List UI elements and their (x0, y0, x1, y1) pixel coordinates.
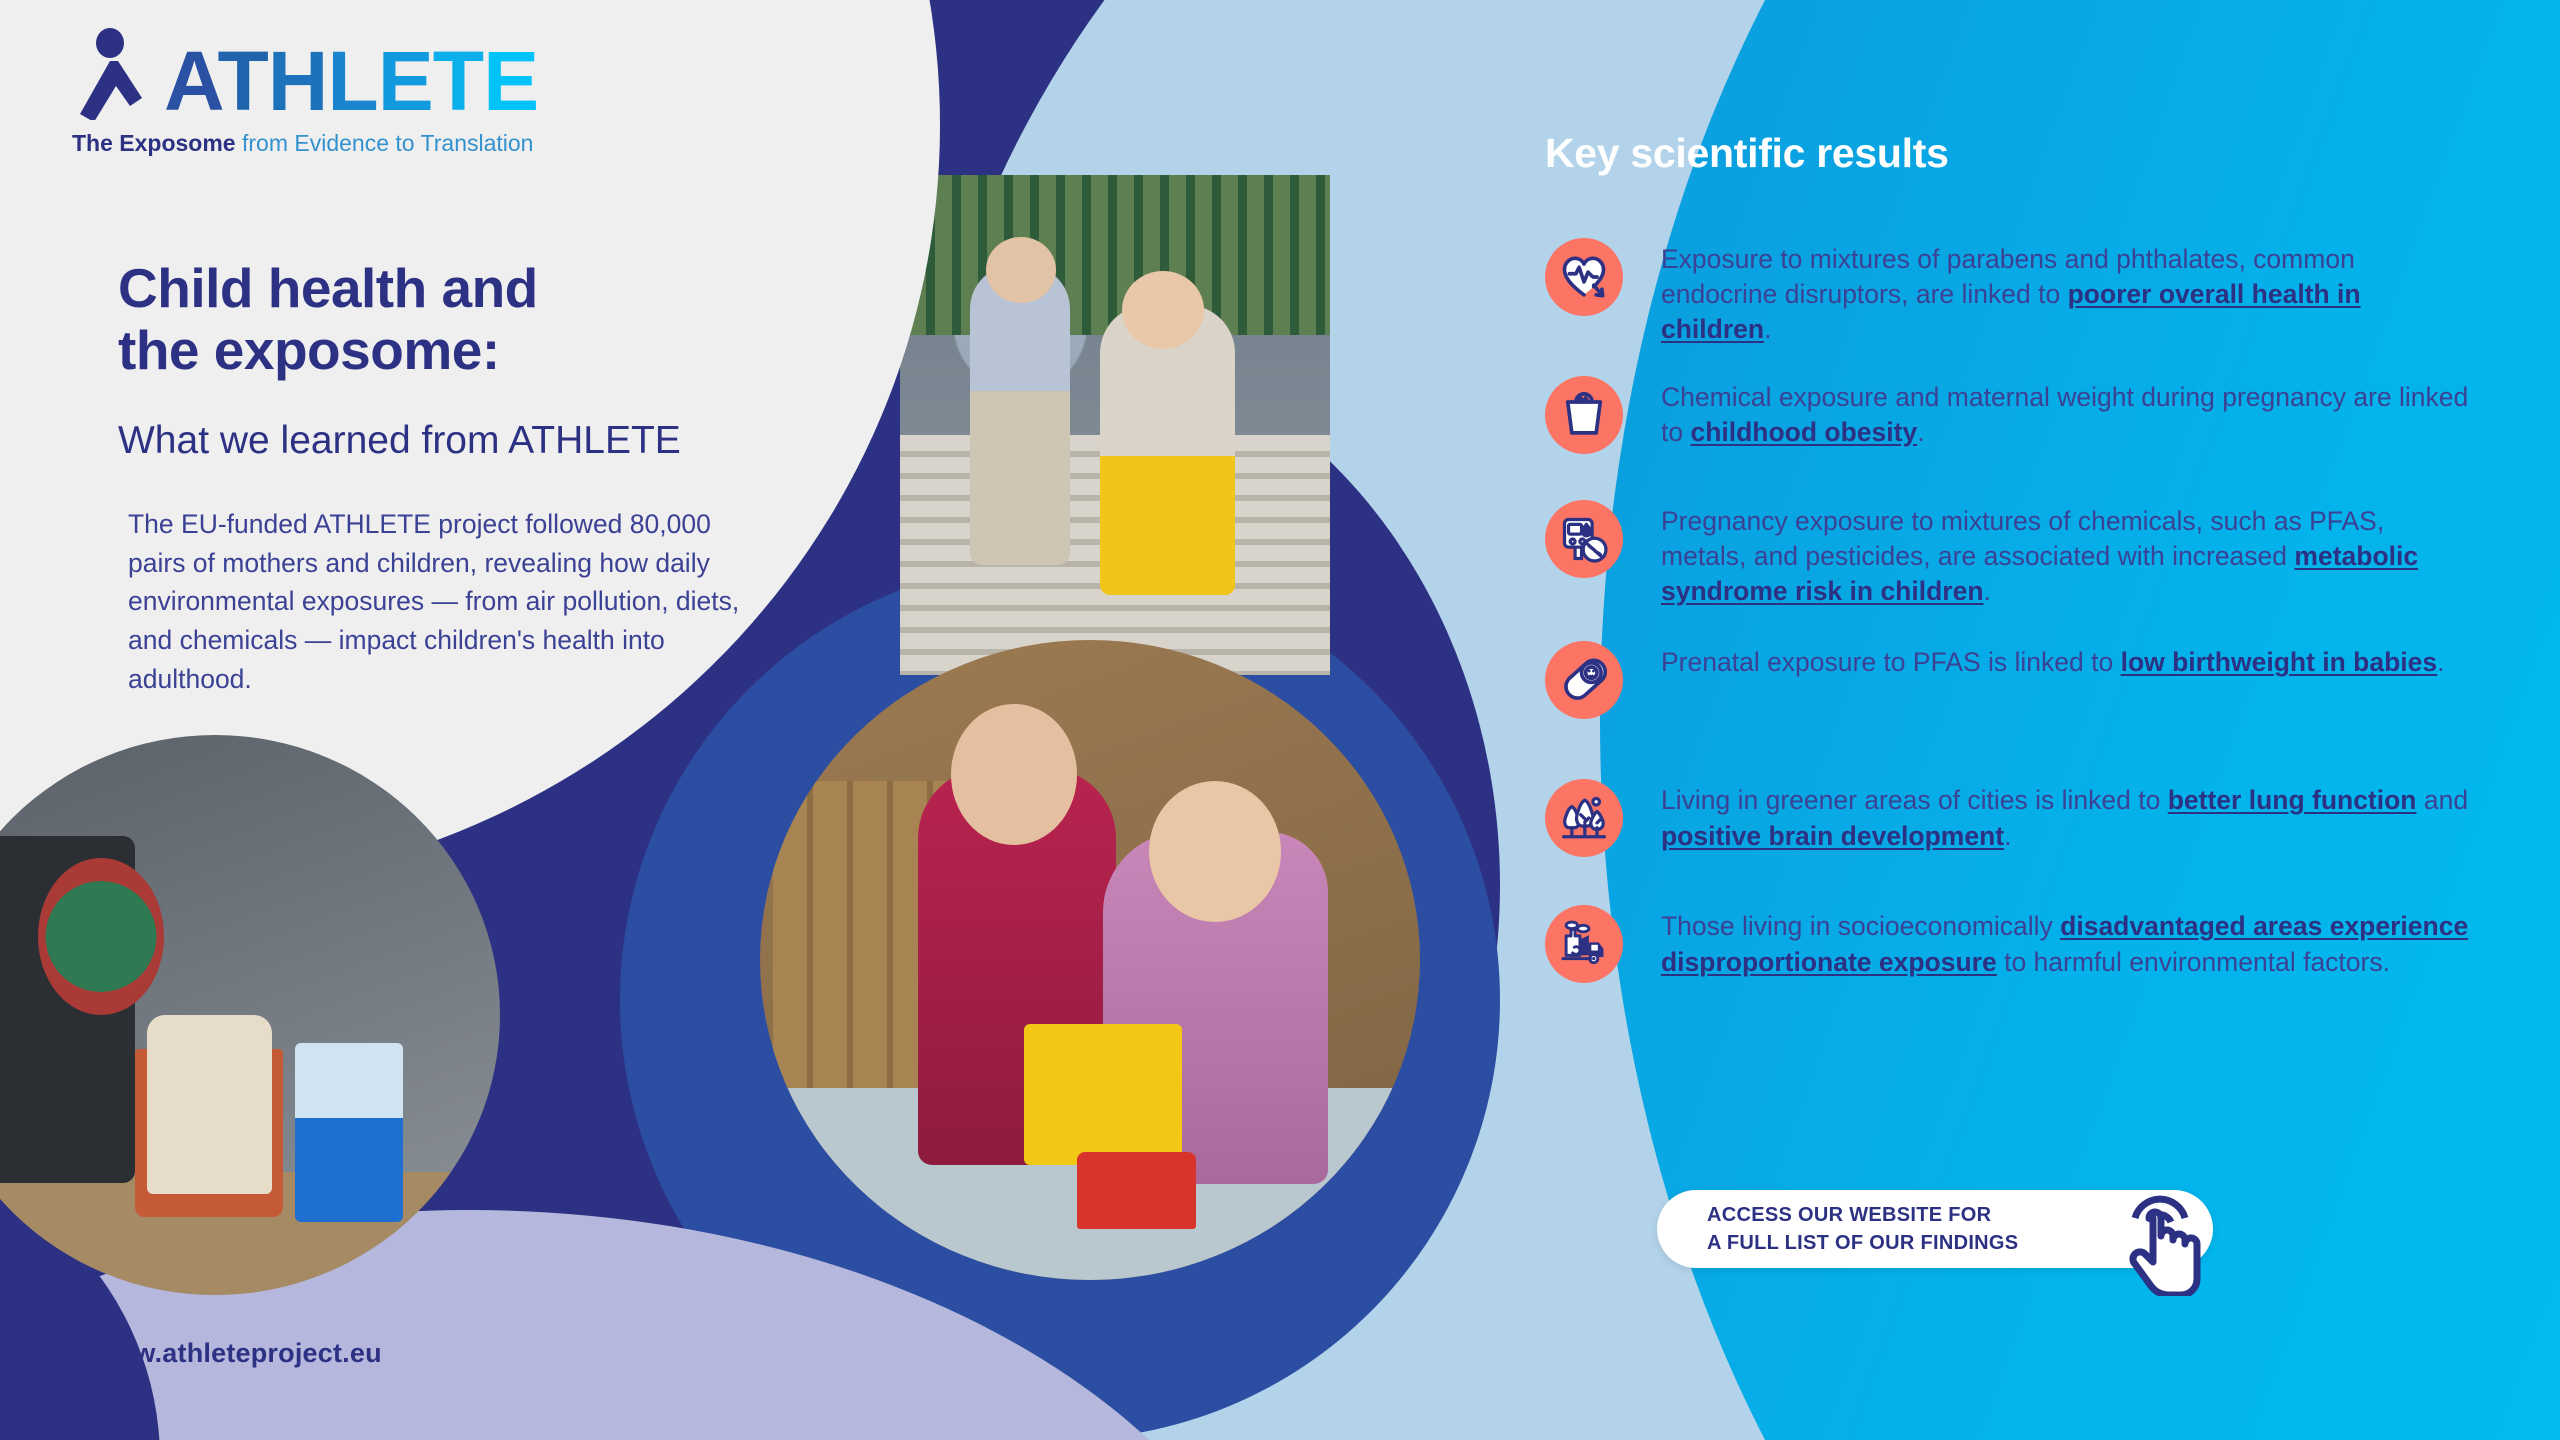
result-text-post: . (1764, 314, 1771, 344)
heart-pulse-down-icon (1545, 238, 1623, 316)
result-text: Living in greener areas of cities is lin… (1661, 777, 2470, 859)
result-link[interactable]: better lung function (2168, 785, 2417, 815)
logo-tagline-rest: from Evidence to Translation (236, 130, 534, 156)
photo-railing (900, 175, 1330, 335)
photo-two-toddlers-on-bench (900, 175, 1330, 675)
result-text-post: . (2004, 821, 2011, 851)
logo-wordmark: ATHLETE (164, 44, 538, 120)
result-text-pre: Those living in socioeconomically (1661, 911, 2060, 941)
photo-toddler-left-head (986, 237, 1056, 303)
glucose-meter-no-sugar-icon (1545, 500, 1623, 578)
result-text: Those living in socioeconomically disadv… (1661, 903, 2470, 979)
logo-tagline-bold: The Exposome (72, 130, 236, 156)
pointing-hand-icon[interactable] (2105, 1178, 2215, 1296)
headline-line-1: Child health and (118, 258, 738, 320)
result-item: Those living in socioeconomically disadv… (1545, 903, 2470, 983)
results-list: Exposure to mixtures of parabens and pht… (1545, 236, 2470, 1001)
athlete-logo: ATHLETE The Exposome from Evidence to Tr… (72, 28, 538, 157)
photo-duster (38, 858, 163, 1015)
factory-truck-icon (1545, 905, 1623, 983)
infographic-canvas: ATHLETE The Exposome from Evidence to Tr… (0, 0, 2560, 1440)
result-text-pre: Prenatal exposure to PFAS is linked to (1661, 647, 2121, 677)
intro-paragraph: The EU-funded ATHLETE project followed 8… (128, 505, 748, 698)
photo-toddler-left-body (970, 265, 1070, 565)
headline-line-2: the exposome: (118, 320, 738, 382)
logo-tagline: The Exposome from Evidence to Translatio… (72, 130, 538, 157)
result-item: Chemical exposure and maternal weight du… (1545, 374, 2470, 454)
result-item: Pregnancy exposure to mixtures of chemic… (1545, 498, 2470, 610)
trees-park-icon (1545, 779, 1623, 857)
result-item: Prenatal exposure to PFAS is linked to l… (1545, 639, 2470, 721)
photo-girl-left-head (951, 704, 1076, 845)
photo-girl-right-head (1149, 781, 1281, 922)
result-text: Exposure to mixtures of parabens and pht… (1661, 236, 2470, 348)
result-text-mid: and (2417, 785, 2469, 815)
result-text: Pregnancy exposure to mixtures of chemic… (1661, 498, 2470, 610)
result-text-pre: Living in greener areas of cities is lin… (1661, 785, 2168, 815)
result-text-post: . (2437, 647, 2444, 677)
result-item: Living in greener areas of cities is lin… (1545, 777, 2470, 859)
photo-toddler-right-head (1122, 271, 1204, 349)
result-text: Chemical exposure and maternal weight du… (1661, 374, 2470, 452)
photo-red-container (1077, 1152, 1196, 1229)
website-url[interactable]: www.athleteproject.eu (92, 1338, 382, 1369)
photo-yellow-package (1024, 1024, 1182, 1165)
cta-line-2: A FULL LIST OF OUR FINDINGS (1707, 1229, 2018, 1257)
photo-two-girls-kitchen-cupboard (760, 640, 1420, 1280)
result-text-post: to harmful environmental factors. (1997, 947, 2390, 977)
result-link[interactable]: low birthweight in babies (2121, 647, 2438, 677)
result-link[interactable]: childhood obesity (1690, 417, 1917, 447)
cta-line-1: ACCESS OUR WEBSITE FOR (1707, 1201, 2018, 1229)
cta-label: ACCESS OUR WEBSITE FOR A FULL LIST OF OU… (1707, 1201, 2018, 1258)
result-item: Exposure to mixtures of parabens and pht… (1545, 236, 2470, 348)
athlete-runner-icon (72, 28, 164, 120)
result-text-pre: Pregnancy exposure to mixtures of chemic… (1661, 506, 2384, 571)
photo-glove (147, 1015, 272, 1194)
result-text-post: . (1917, 417, 1924, 447)
page-title: Child health and the exposome: (118, 258, 738, 381)
photo-spray-bottle (295, 1043, 403, 1222)
result-link-2[interactable]: positive brain development (1661, 821, 2004, 851)
results-title: Key scientific results (1545, 130, 1949, 177)
result-text: Prenatal exposure to PFAS is linked to l… (1661, 639, 2445, 721)
result-text-post: . (1984, 576, 1991, 606)
weighing-scale-icon (1545, 376, 1623, 454)
page-subtitle: What we learned from ATHLETE (118, 418, 818, 465)
swaddled-baby-icon (1545, 641, 1623, 719)
